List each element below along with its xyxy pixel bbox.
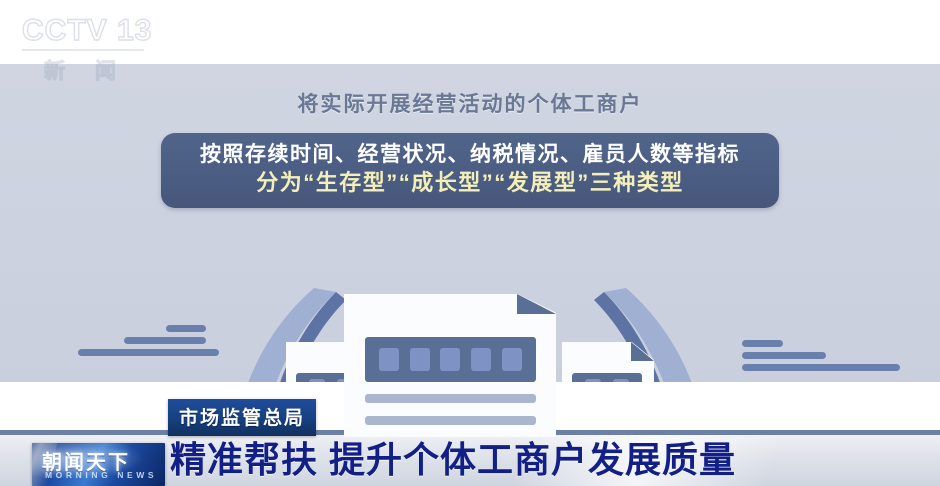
program-logo-en: MORNING NEWS xyxy=(45,470,157,480)
page-fold-icon xyxy=(517,294,556,314)
speed-line xyxy=(742,364,900,371)
page-fold-icon xyxy=(631,342,654,361)
speed-line xyxy=(166,325,206,332)
broadcast-screen: CCTV 13 新 闻 将实际开展经营活动的个体工商户 按照存续时间、经营状况、… xyxy=(0,0,940,486)
document-sheet xyxy=(344,294,556,437)
speed-lines-left xyxy=(78,325,219,361)
speed-line xyxy=(124,337,206,344)
program-logo: 朝闻天下 MORNING NEWS xyxy=(32,443,165,486)
speed-lines-right xyxy=(742,340,900,376)
certificate-document-center xyxy=(344,294,556,437)
document-text-line xyxy=(365,394,536,403)
callout-line-1: 按照存续时间、经营状况、纳税情况、雇员人数等指标 xyxy=(179,142,761,168)
background-top-white-band xyxy=(0,0,940,64)
document-text-line xyxy=(365,416,536,425)
source-tag-label: 市场监管总局 xyxy=(179,408,305,429)
source-tag: 市场监管总局 xyxy=(168,399,316,436)
callout-line-2: 分为“生存型”“成长型”“发展型”三种类型 xyxy=(179,168,761,197)
slide-heading: 将实际开展经营活动的个体工商户 xyxy=(0,88,940,118)
speed-line xyxy=(78,349,219,356)
news-headline: 精准帮扶 提升个体工商户发展质量 xyxy=(170,436,736,484)
slide-callout-box: 按照存续时间、经营状况、纳税情况、雇员人数等指标 分为“生存型”“成长型”“发展… xyxy=(161,133,779,208)
document-header-band xyxy=(365,337,536,382)
speed-line xyxy=(742,340,783,347)
speed-line xyxy=(742,352,826,359)
